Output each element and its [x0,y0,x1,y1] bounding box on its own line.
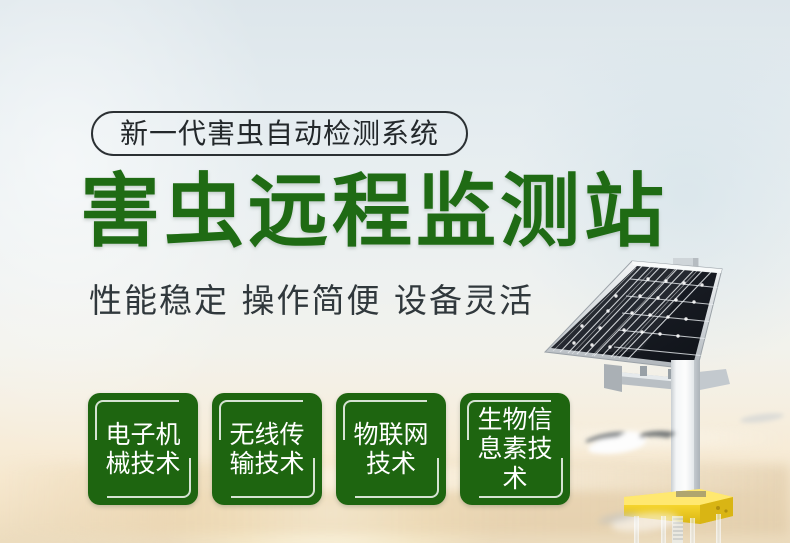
feature-tag-iot[interactable]: 物联网技术 [336,393,446,505]
feature-tag-list: 电子机械技术 无线传输技术 物联网技术 生物信息素技术 [88,393,570,505]
support-pole-lower [671,360,700,500]
feature-tag-label: 无线传输技术 [224,420,310,479]
page-title: 害虫远程监测站 [80,172,668,252]
feature-tag-pheromone[interactable]: 生物信息素技术 [460,393,570,505]
feature-tag-wireless-transmission[interactable]: 无线传输技术 [212,393,322,505]
insect-far [740,411,785,424]
tagline-badge-text: 新一代害虫自动检测系统 [120,120,439,148]
insect-right [586,431,676,454]
feature-tag-label: 电子机械技术 [100,420,186,479]
mount-bracket [604,364,730,392]
feature-tag-electromechanical[interactable]: 电子机械技术 [88,393,198,505]
promotional-banner: 新一代害虫自动检测系统 害虫远程监测站 性能稳定 操作简便 设备灵活 电子机械技… [0,0,790,543]
tagline-badge: 新一代害虫自动检测系统 [91,111,468,156]
feature-tag-label: 生物信息素技术 [472,405,558,494]
feature-tag-label: 物联网技术 [348,420,434,479]
page-subtitle: 性能稳定 操作简便 设备灵活 [89,281,534,321]
solar-panel [545,261,722,370]
